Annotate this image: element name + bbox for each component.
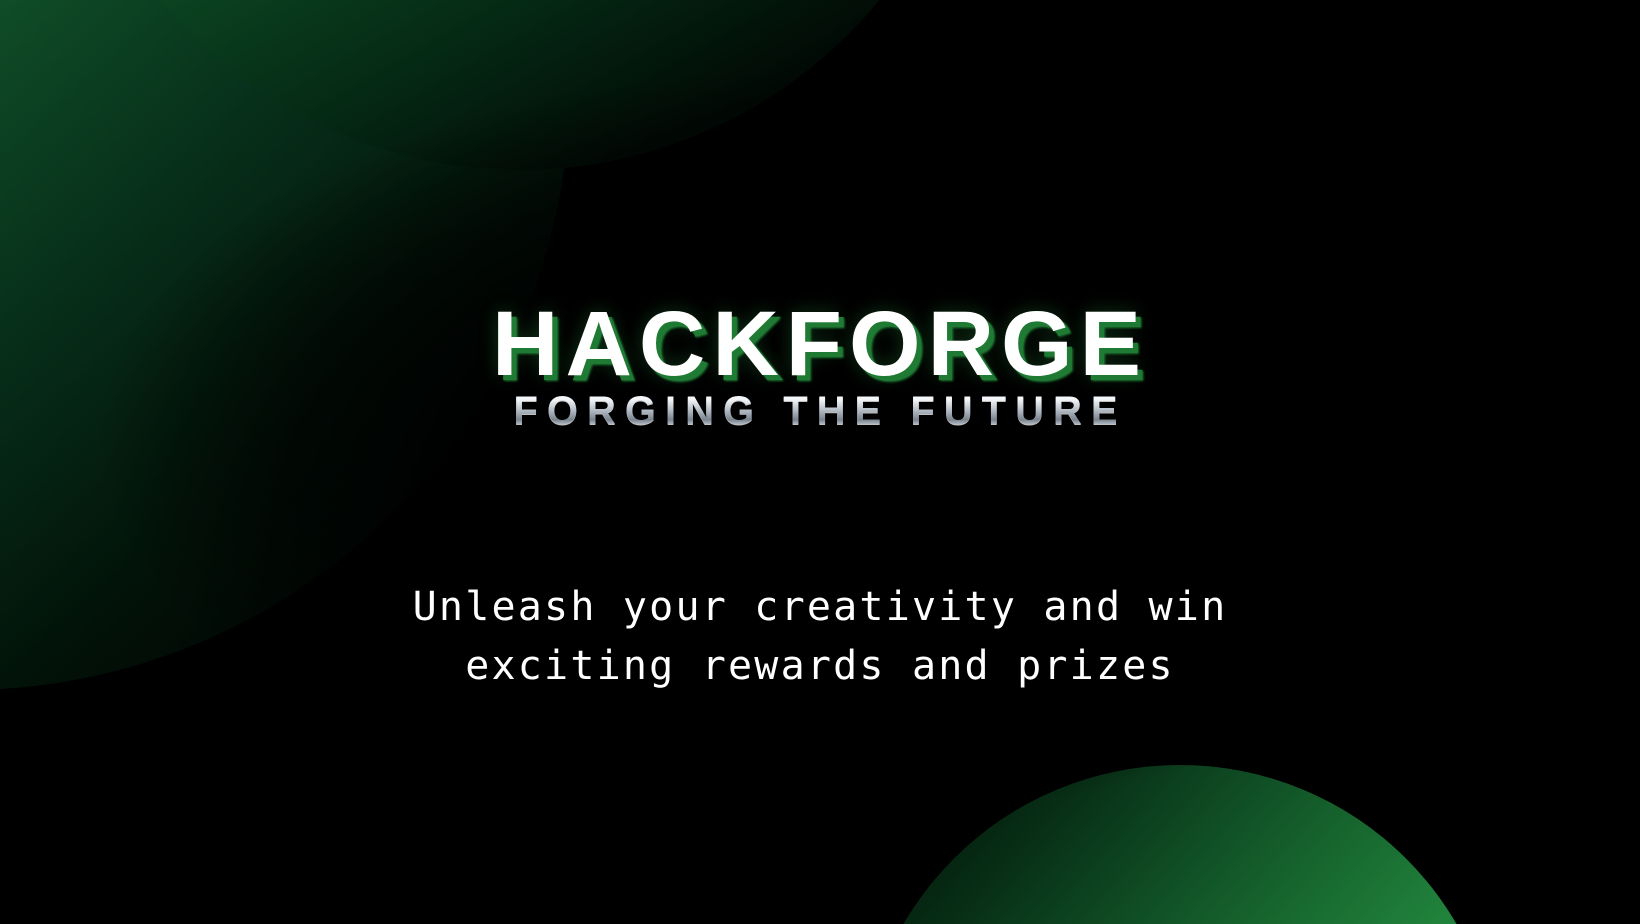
hero-tagline: Unleash your creativity and win exciting…	[315, 578, 1325, 696]
brand-title: HACKFORGE	[0, 298, 1640, 390]
brand-subtitle: FORGING THE FUTURE	[0, 391, 1640, 431]
hero-content: HACKFORGE FORGING THE FUTURE Unleash you…	[0, 0, 1640, 924]
hero-banner: HACKFORGE FORGING THE FUTURE Unleash you…	[0, 0, 1640, 924]
